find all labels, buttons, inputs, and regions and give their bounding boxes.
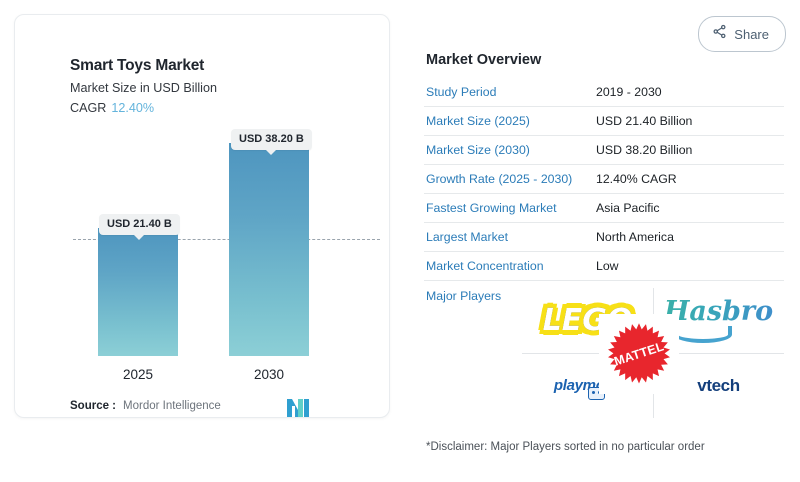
- row-key-growth-rate: Growth Rate (2025 - 2030): [424, 172, 596, 186]
- source-name: Mordor Intelligence: [123, 400, 221, 412]
- table-row: Fastest Growing Market Asia Pacific: [424, 194, 784, 223]
- table-row: Market Concentration Low: [424, 252, 784, 281]
- disclaimer-text: *Disclaimer: Major Players sorted in no …: [426, 441, 705, 453]
- row-key-study-period: Study Period: [424, 85, 596, 99]
- market-overview-table: Study Period 2019 - 2030 Market Size (20…: [424, 78, 784, 311]
- row-value-market-size-2030: USD 38.20 Billion: [596, 143, 692, 157]
- share-button-label: Share: [734, 27, 769, 42]
- x-axis-tick-2030: 2030: [229, 367, 309, 382]
- row-key-largest-market: Largest Market: [424, 230, 596, 244]
- row-value-market-concentration: Low: [596, 259, 619, 273]
- bar-2025[interactable]: [98, 228, 178, 356]
- row-value-largest-market: North America: [596, 230, 674, 244]
- row-value-growth-rate: 12.40% CAGR: [596, 172, 677, 186]
- right-panel: Share Market Overview Study Period 2019 …: [424, 0, 800, 482]
- row-key-market-concentration: Market Concentration: [424, 259, 596, 273]
- source-label: Source :: [70, 400, 116, 412]
- hasbro-logo: Hasbro: [664, 298, 773, 343]
- bar-chart-plot: USD 21.40 B USD 38.20 B 2025 2030: [15, 15, 391, 419]
- row-value-market-size-2025: USD 21.40 Billion: [596, 114, 692, 128]
- mattel-logo[interactable]: MATTEL: [607, 322, 671, 386]
- table-row: Market Size (2025) USD 21.40 Billion: [424, 107, 784, 136]
- chart-card: Smart Toys Market Market Size in USD Bil…: [14, 14, 390, 418]
- bar-2030[interactable]: [229, 143, 309, 356]
- table-row: Largest Market North America: [424, 223, 784, 252]
- vtech-logo-text: vtech: [697, 376, 739, 396]
- source-line: Source : Mordor Intelligence: [70, 400, 221, 412]
- row-value-fastest-growing-market: Asia Pacific: [596, 201, 660, 215]
- data-label-2025: USD 21.40 B: [99, 214, 180, 235]
- hasbro-logo-text: Hasbro: [664, 298, 773, 325]
- table-row: Study Period 2019 - 2030: [424, 78, 784, 107]
- mordor-intelligence-logo: [287, 399, 309, 422]
- data-label-2030: USD 38.20 B: [231, 129, 312, 150]
- x-axis-tick-2025: 2025: [98, 367, 178, 382]
- market-overview-page: Smart Toys Market Market Size in USD Bil…: [0, 0, 800, 482]
- row-key-fastest-growing-market: Fastest Growing Market: [424, 201, 596, 215]
- share-icon: [712, 24, 727, 44]
- row-key-market-size-2030: Market Size (2030): [424, 143, 596, 157]
- table-row: Growth Rate (2025 - 2030) 12.40% CAGR: [424, 165, 784, 194]
- row-key-market-size-2025: Market Size (2025): [424, 114, 596, 128]
- share-button[interactable]: Share: [698, 16, 786, 52]
- table-row: Market Size (2030) USD 38.20 Billion: [424, 136, 784, 165]
- major-players-logo-grid: LEGO Hasbro playmobil vtech: [522, 288, 784, 418]
- row-value-study-period: 2019 - 2030: [596, 85, 662, 99]
- market-overview-title: Market Overview: [426, 52, 541, 68]
- hasbro-swoosh-icon: [674, 326, 732, 343]
